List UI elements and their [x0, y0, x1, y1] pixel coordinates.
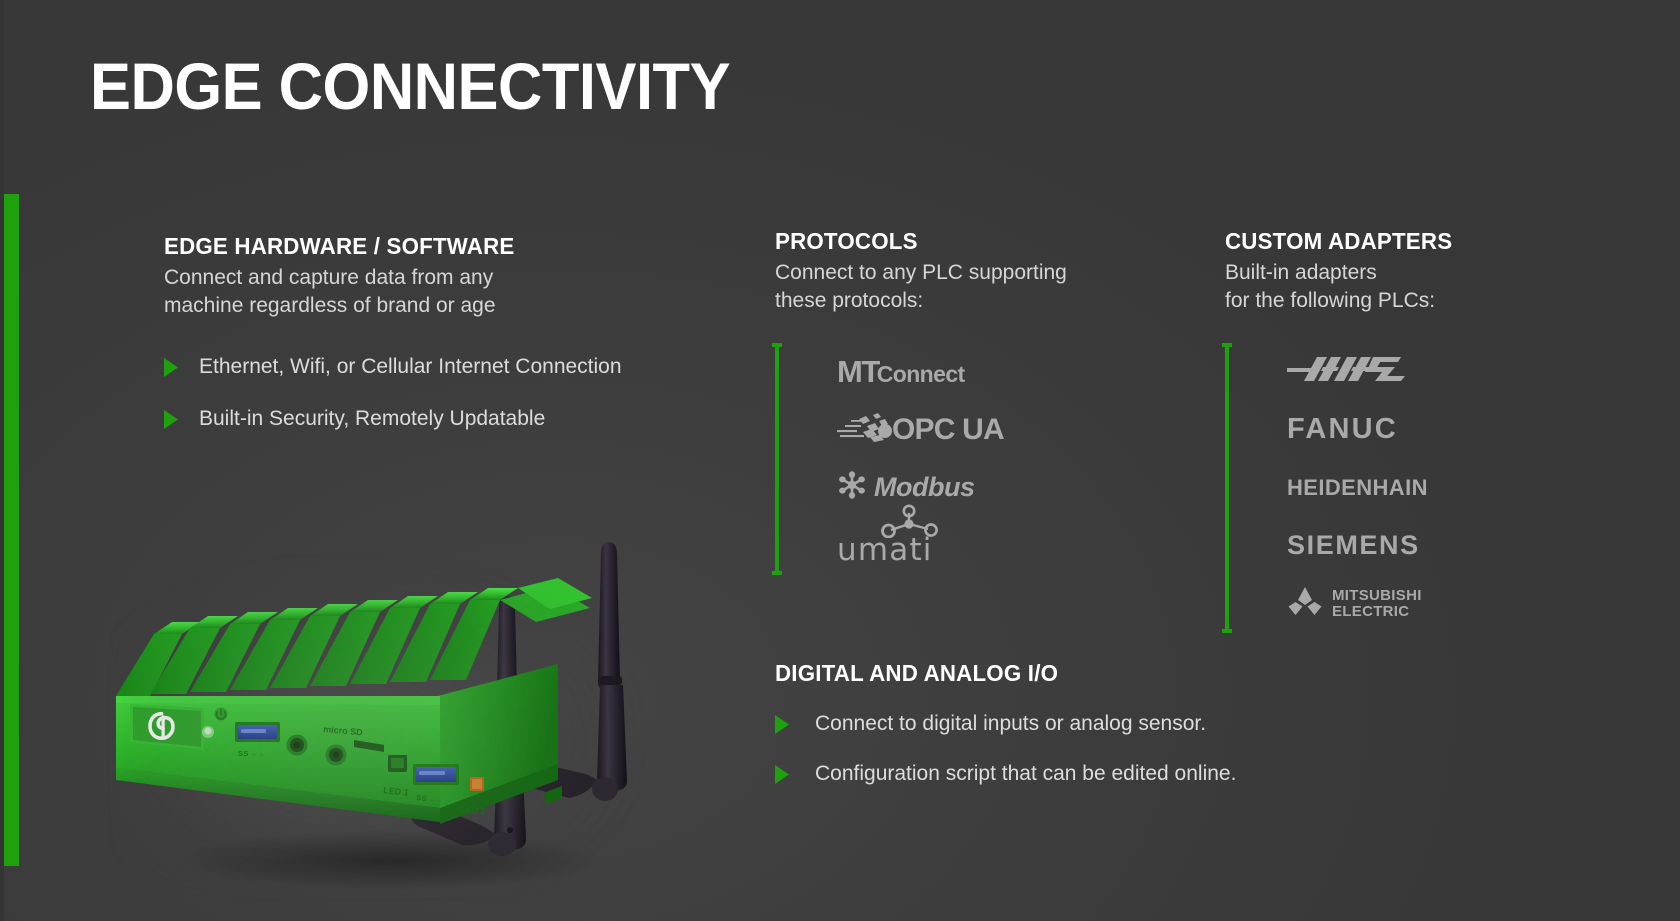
logo-row: HEIDENHAIN: [1287, 459, 1605, 517]
edge-hardware-heading: EDGE HARDWARE / SOFTWARE: [164, 233, 620, 260]
mtconnect-logo: MT Connect: [837, 354, 965, 390]
modbus-flake-icon: [837, 470, 867, 505]
mtconnect-logo-part1: MT: [837, 354, 879, 390]
logo-row: SIEMENS: [1287, 517, 1605, 575]
siemens-logo: SIEMENS: [1287, 530, 1420, 561]
page-title: EDGE CONNECTIVITY: [90, 52, 730, 121]
custom-adapters-subtitle-line1: Built-in adapters: [1225, 259, 1605, 287]
umati-logo: umati: [837, 524, 933, 568]
left-accent-bar: [4, 194, 19, 866]
mitsubishi-electric-logo-text: MITSUBISHI ELECTRIC: [1332, 588, 1422, 620]
logo-row: umati: [837, 517, 1135, 575]
logo-row: [1287, 343, 1605, 401]
arrow-right-icon: [775, 715, 789, 734]
mtconnect-logo-part2: Connect: [877, 361, 965, 388]
custom-adapters-subtitle: Built-in adapters for the following PLCs…: [1225, 259, 1605, 315]
mitsubishi-logo-line2: ELECTRIC: [1332, 604, 1422, 620]
protocols-subtitle-line2: these protocols:: [775, 287, 1135, 315]
fanuc-logo: FANUC: [1287, 413, 1398, 446]
logo-row: FANUC: [1287, 401, 1605, 459]
list-item-label: Configuration script that can be edited …: [815, 759, 1236, 789]
modbus-logo-text: Modbus: [874, 472, 974, 503]
adapters-green-rule: [1225, 343, 1229, 633]
logo-row: MT Connect: [837, 343, 1135, 401]
list-item-label: Connect to digital inputs or analog sens…: [815, 709, 1206, 739]
protocol-logo-list: MT Connect: [775, 343, 1135, 575]
section-edge-hardware: EDGE HARDWARE / SOFTWARE Connect and cap…: [164, 233, 634, 455]
arrow-right-icon: [164, 358, 178, 377]
arrow-right-icon: [164, 410, 178, 429]
protocols-subtitle: Connect to any PLC supporting these prot…: [775, 259, 1135, 315]
section-protocols: PROTOCOLS Connect to any PLC supporting …: [775, 228, 1135, 575]
section-digital-analog-io: DIGITAL AND ANALOG I/O Connect to digita…: [775, 660, 1475, 809]
list-item: Connect to digital inputs or analog sens…: [775, 709, 1475, 739]
logo-row: MITSUBISHI ELECTRIC: [1287, 575, 1605, 633]
mitsubishi-electric-logo: MITSUBISHI ELECTRIC: [1287, 585, 1422, 622]
edge-gateway-device-image: SS ←→ micro SD: [108, 500, 688, 900]
modbus-logo: Modbus: [837, 470, 974, 505]
logo-row: OPC UA: [837, 401, 1135, 459]
list-item-label: Built-in Security, Remotely Updatable: [199, 404, 545, 434]
opcua-swoosh-icon: [837, 410, 899, 449]
device-backlight-glow: [118, 560, 638, 890]
list-item-label: Ethernet, Wifi, or Cellular Internet Con…: [199, 352, 622, 382]
slide-canvas: EDGE CONNECTIVITY EDGE HARDWARE / SOFTWA…: [0, 0, 1680, 921]
umati-network-icon: [879, 504, 939, 543]
custom-adapters-heading: CUSTOM ADAPTERS: [1225, 228, 1594, 255]
protocols-heading: PROTOCOLS: [775, 228, 1124, 255]
digital-analog-io-heading: DIGITAL AND ANALOG I/O: [775, 660, 1454, 687]
protocols-green-rule: [775, 343, 779, 575]
list-item: Configuration script that can be edited …: [775, 759, 1475, 789]
mitsubishi-three-diamonds-icon: [1287, 585, 1323, 622]
heidenhain-logo: HEIDENHAIN: [1287, 475, 1428, 501]
list-item: Ethernet, Wifi, or Cellular Internet Con…: [164, 352, 634, 382]
protocols-subtitle-line1: Connect to any PLC supporting: [775, 259, 1135, 287]
mitsubishi-logo-line1: MITSUBISHI: [1332, 588, 1422, 604]
section-custom-adapters: CUSTOM ADAPTERS Built-in adapters for th…: [1225, 228, 1605, 633]
opcua-logo-text: OPC UA: [892, 413, 1004, 447]
edge-hardware-bullet-list: Ethernet, Wifi, or Cellular Internet Con…: [164, 352, 634, 434]
digital-analog-io-bullet-list: Connect to digital inputs or analog sens…: [775, 709, 1475, 789]
list-item: Built-in Security, Remotely Updatable: [164, 404, 634, 434]
custom-adapters-subtitle-line2: for the following PLCs:: [1225, 287, 1605, 315]
edge-hardware-subtitle-line2: machine regardless of brand or age: [164, 292, 634, 320]
opcua-logo: OPC UA: [837, 410, 1004, 449]
edge-hardware-subtitle-line1: Connect and capture data from any: [164, 264, 634, 292]
adapter-logo-list: FANUC HEIDENHAIN SIEMENS: [1225, 343, 1605, 633]
edge-hardware-subtitle: Connect and capture data from any machin…: [164, 264, 634, 320]
arrow-right-icon: [775, 765, 789, 784]
haas-logo: [1287, 354, 1405, 389]
